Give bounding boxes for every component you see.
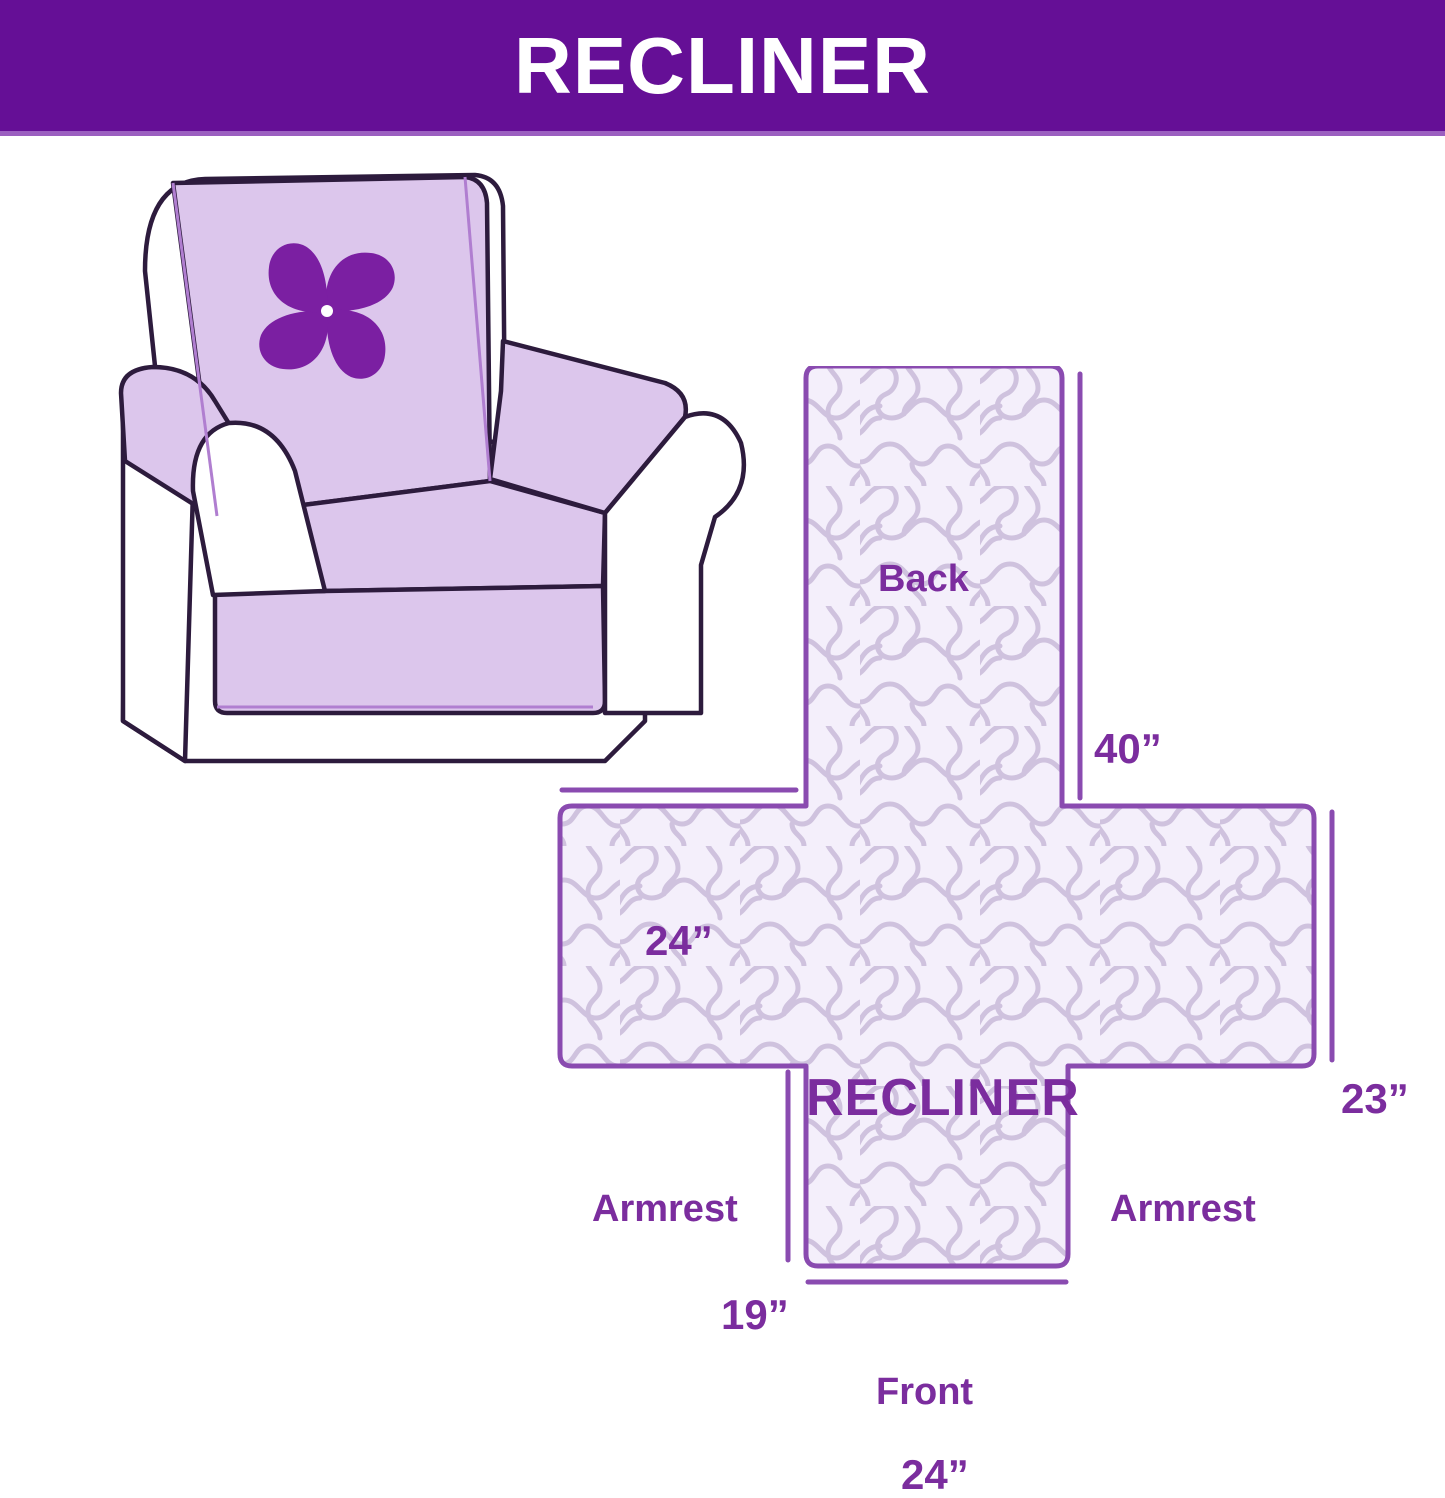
panel-label-armrest-right: Armrest xyxy=(1110,1190,1256,1228)
dimension-label-front-height: 19” xyxy=(721,1294,789,1336)
panel-label-front: Front xyxy=(876,1373,973,1411)
dimension-label-front-width: 24” xyxy=(901,1454,969,1496)
header-banner: RECLINER xyxy=(0,0,1445,131)
recliner-cover-cross-diagram xyxy=(500,366,1430,1426)
panel-label-back: Back xyxy=(878,560,969,598)
diagram-center-label: RECLINER xyxy=(806,1072,1080,1124)
page-title: RECLINER xyxy=(514,26,931,106)
diagram-stage: .olw { fill:#ffffff; stroke:#2d1b3d; str… xyxy=(0,136,1445,1445)
dimension-label-armrest-height: 23” xyxy=(1341,1078,1409,1120)
panel-label-armrest-left: Armrest xyxy=(592,1190,738,1228)
dimension-label-back-width: 24” xyxy=(645,920,713,962)
cover-cross-shape xyxy=(560,366,1314,1266)
dimension-label-back-height: 40” xyxy=(1094,728,1162,770)
